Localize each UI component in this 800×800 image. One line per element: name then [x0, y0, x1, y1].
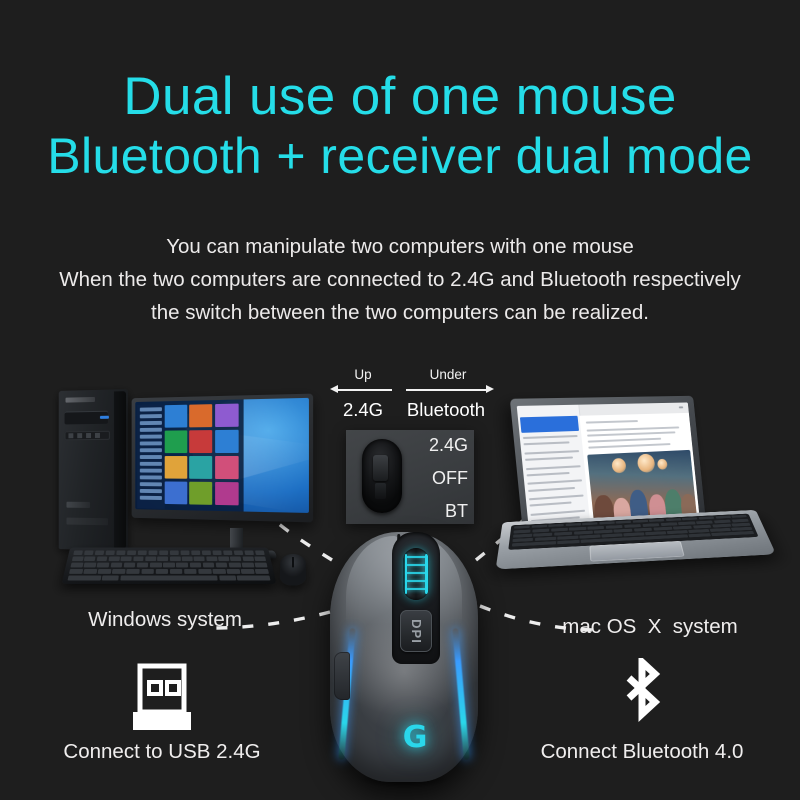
mouse-brand-logo: G	[392, 718, 438, 758]
toggle-slider-nub[interactable]	[373, 455, 388, 481]
switch-under-label: Under	[402, 368, 494, 382]
mouse-wheel-well: DPI	[392, 532, 440, 664]
pc-keyboard-icon	[62, 548, 277, 584]
physical-toggle-switch[interactable]	[362, 439, 402, 513]
toggle-position-labels: 2.4G OFF BT	[406, 436, 468, 520]
feature-usb-receiver: Connect to USB 2.4G	[12, 660, 312, 764]
mouse-rgb-strip-right	[452, 628, 469, 760]
tower-power-led	[100, 416, 109, 419]
gaming-mouse-illustration: DPI G	[318, 528, 490, 790]
switch-mode-24g: 2.4G	[330, 399, 396, 421]
desktop-pc-illustration	[48, 382, 314, 597]
headline-block: Dual use of one mouse Bluetooth + receiv…	[0, 68, 800, 183]
mail-reading-pane	[580, 413, 700, 530]
mail-selected-row	[520, 416, 579, 433]
start-menu-app-list	[137, 404, 164, 508]
monitor-bezel	[132, 394, 313, 523]
windows-start-menu	[135, 399, 243, 511]
product-infographic: Dual use of one mouse Bluetooth + receiv…	[0, 0, 800, 800]
tower-logo	[66, 502, 90, 508]
dpi-button-label: DPI	[408, 619, 423, 644]
windows-os-label: Windows system	[40, 608, 290, 632]
toggle-position-2: BT	[445, 502, 468, 520]
switch-direction-arrows: Up Under	[330, 368, 494, 398]
subcopy-line-3: the switch between the two computers can…	[0, 296, 800, 329]
mouse-side-buttons[interactable]	[334, 652, 350, 700]
switch-up-direction: Up	[330, 368, 396, 396]
switch-mode-bluetooth: Bluetooth	[398, 399, 494, 421]
macos-os-label: mac OS X system	[520, 615, 780, 639]
switch-mode-labels: 2.4G Bluetooth	[330, 399, 494, 425]
mouse-body: DPI G	[330, 532, 478, 782]
subcopy-line-1: You can manipulate two computers with on…	[0, 230, 800, 263]
pc-stock-mouse-icon	[279, 554, 306, 586]
toggle-position-0: 2.4G	[429, 436, 468, 454]
tower-front-ports	[65, 431, 110, 441]
switch-up-label: Up	[330, 368, 396, 382]
feature-bluetooth: Connect Bluetooth 4.0	[492, 660, 792, 764]
tower-brand-mark	[66, 397, 95, 403]
monitor-screen-windows10	[135, 398, 309, 513]
mouse-scroll-wheel[interactable]	[403, 548, 429, 600]
macbook-illustration	[498, 396, 770, 608]
usb-receiver-icon	[12, 660, 312, 736]
subcopy-block: You can manipulate two computers with on…	[0, 230, 800, 330]
pc-monitor-icon	[126, 396, 312, 520]
usb-receiver-caption: Connect to USB 2.4G	[12, 740, 312, 764]
bluetooth-caption: Connect Bluetooth 4.0	[492, 740, 792, 764]
switch-under-direction: Under	[402, 368, 494, 396]
bluetooth-icon	[492, 660, 792, 736]
arrow-left-icon	[330, 384, 396, 396]
headline-line-1: Dual use of one mouse	[0, 68, 800, 125]
tower-model-text	[66, 518, 107, 526]
mouse-switch-closeup: 2.4G OFF BT	[346, 430, 474, 524]
subcopy-line-2: When the two computers are connected to …	[0, 263, 800, 296]
headline-line-2: Bluetooth + receiver dual mode	[0, 129, 800, 183]
dpi-button[interactable]: DPI	[400, 610, 432, 652]
switch-callout: Up Under 2.4G Bluetooth 2.4G OFF	[330, 368, 494, 532]
toggle-position-1: OFF	[432, 469, 468, 487]
laptop-trackpad	[589, 541, 685, 561]
start-menu-tiles	[165, 403, 242, 508]
pc-tower-icon	[59, 389, 128, 551]
arrow-right-icon	[402, 384, 494, 396]
